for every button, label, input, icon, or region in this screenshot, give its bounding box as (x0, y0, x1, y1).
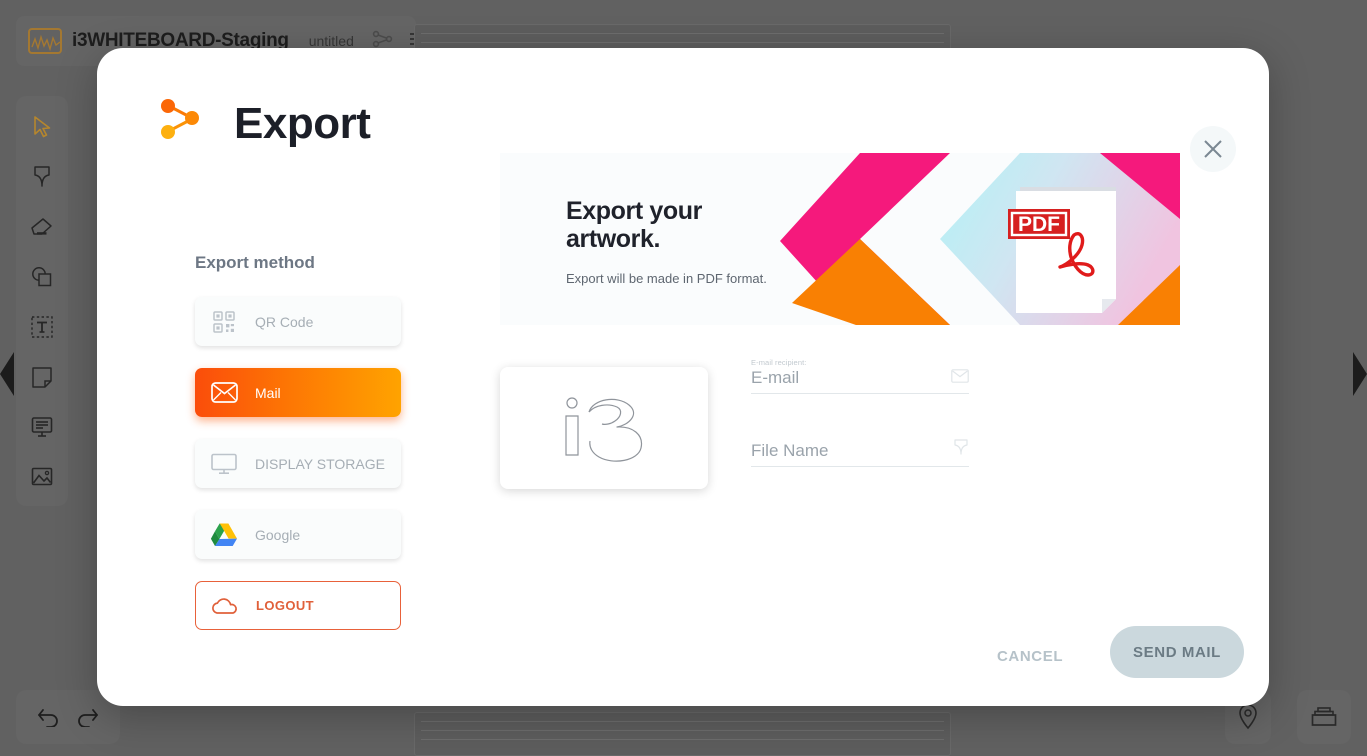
send-mail-button[interactable]: SEND MAIL (1110, 626, 1244, 678)
cancel-button[interactable]: CANCEL (997, 648, 1063, 665)
export-dialog: Export Export method QR Code (97, 48, 1269, 706)
export-method-display-storage[interactable]: DISPLAY STORAGE (195, 439, 401, 488)
export-form: E-mail recipient: E-mail File Name (751, 358, 969, 467)
email-field-caption: E-mail recipient: (751, 358, 969, 367)
monitor-icon (209, 453, 239, 475)
file-name-field-group: File Name (751, 438, 969, 467)
dialog-header: Export (156, 93, 370, 154)
banner-heading-line-1: Export your (566, 197, 826, 225)
svg-text:PDF: PDF (1018, 213, 1060, 236)
export-method-qr-code[interactable]: QR Code (195, 297, 401, 346)
google-drive-icon (209, 522, 239, 547)
export-method-logout[interactable]: LOGOUT (195, 581, 401, 630)
close-icon (1202, 138, 1224, 160)
export-method-label-display-storage: DISPLAY STORAGE (255, 456, 385, 472)
cloud-icon (210, 596, 240, 616)
pen-tip-icon (953, 438, 969, 461)
file-name-input[interactable]: File Name (751, 441, 828, 461)
export-method-label-logout: LOGOUT (256, 598, 314, 613)
qr-code-icon (209, 311, 239, 333)
email-field-group: E-mail recipient: E-mail (751, 358, 969, 394)
banner-subtitle: Export will be made in PDF format. (566, 270, 826, 289)
banner-heading-line-2: artwork. (566, 225, 826, 253)
close-button[interactable] (1190, 126, 1236, 172)
email-input[interactable]: E-mail (751, 368, 799, 388)
export-method-label-qr-code: QR Code (255, 314, 313, 330)
envelope-icon (951, 369, 969, 388)
export-method-label: Export method (195, 253, 315, 273)
export-banner: PDF Export your artwork. Export will be … (500, 153, 1180, 325)
page-title: Export (234, 99, 370, 149)
share-node-icon (156, 93, 204, 154)
export-method-label-mail: Mail (255, 385, 281, 401)
export-method-google[interactable]: Google (195, 510, 401, 559)
banner-text: Export your artwork. Export will be made… (566, 197, 826, 289)
i3-sketch-icon (545, 385, 663, 471)
export-method-label-google: Google (255, 527, 300, 543)
export-method-list: QR Code Mail DISPLAY STORAGE (195, 297, 401, 630)
artwork-preview[interactable] (500, 367, 708, 489)
envelope-icon (209, 382, 239, 403)
export-method-mail[interactable]: Mail (195, 368, 401, 417)
